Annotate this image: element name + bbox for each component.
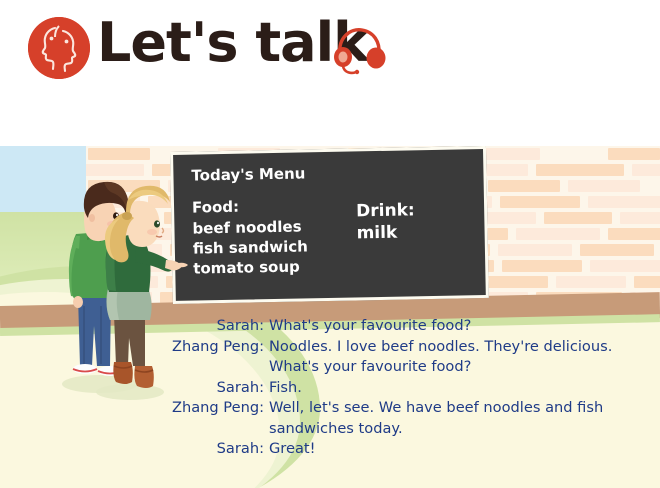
menu-food-item: beef noodles <box>192 216 307 238</box>
dialogue-text: What's your favourite food? <box>269 316 658 337</box>
menu-title: Today's Menu <box>191 164 305 184</box>
dialogue-speaker <box>166 357 269 378</box>
two-faces-talking-icon <box>28 17 90 79</box>
dialogue-speaker <box>166 419 269 440</box>
dialogue-text: sandwiches today. <box>269 419 658 440</box>
dialogue-speaker: Zhang Peng: <box>166 337 269 358</box>
menu-drink-item: milk <box>356 223 397 244</box>
menu-food-item: fish sandwich <box>193 236 308 258</box>
dialogue-text: Noodles. I love beef noodles. They're de… <box>269 337 658 358</box>
dialogue-line: sandwiches today. <box>166 419 658 440</box>
menu-food-label: Food: <box>192 198 239 217</box>
menu-board: Today's Menu Food: beef noodles fish san… <box>170 146 489 304</box>
dialogue-text: What's your favourite food? <box>269 357 658 378</box>
illustration-scene: Today's Menu Food: beef noodles fish san… <box>0 146 660 488</box>
dialogue-line: Sarah: What's your favourite food? <box>166 316 658 337</box>
dialogue-line: Zhang Peng: Well, let's see. We have bee… <box>166 398 658 419</box>
dialogue-line: Sarah: Great! <box>166 439 658 460</box>
dialogue-speaker: Zhang Peng: <box>166 398 269 419</box>
dialogue-speaker: Sarah: <box>166 378 269 399</box>
menu-drink-label: Drink: <box>356 200 415 221</box>
dialogue-text: Well, let's see. We have beef noodles an… <box>269 398 658 419</box>
dialogue-line: What's your favourite food? <box>166 357 658 378</box>
menu-food-item: tomato soup <box>193 256 308 278</box>
dialogue-line: Zhang Peng: Noodles. I love beef noodles… <box>166 337 658 358</box>
dialogue-speaker: Sarah: <box>166 316 269 337</box>
page-title: Let's talk <box>97 12 368 74</box>
dialogue-text: Great! <box>269 439 658 460</box>
menu-food-items: beef noodles fish sandwich tomato soup <box>192 216 308 278</box>
page-root: Let's talk <box>0 0 660 488</box>
headset-icon <box>332 24 386 76</box>
dialogue-line: Sarah: Fish. <box>166 378 658 399</box>
dialogue-text: Fish. <box>269 378 658 399</box>
page-header: Let's talk <box>0 0 660 146</box>
dialogue-speaker: Sarah: <box>166 439 269 460</box>
dialogue-block: Sarah: What's your favourite food? Zhang… <box>166 316 658 460</box>
